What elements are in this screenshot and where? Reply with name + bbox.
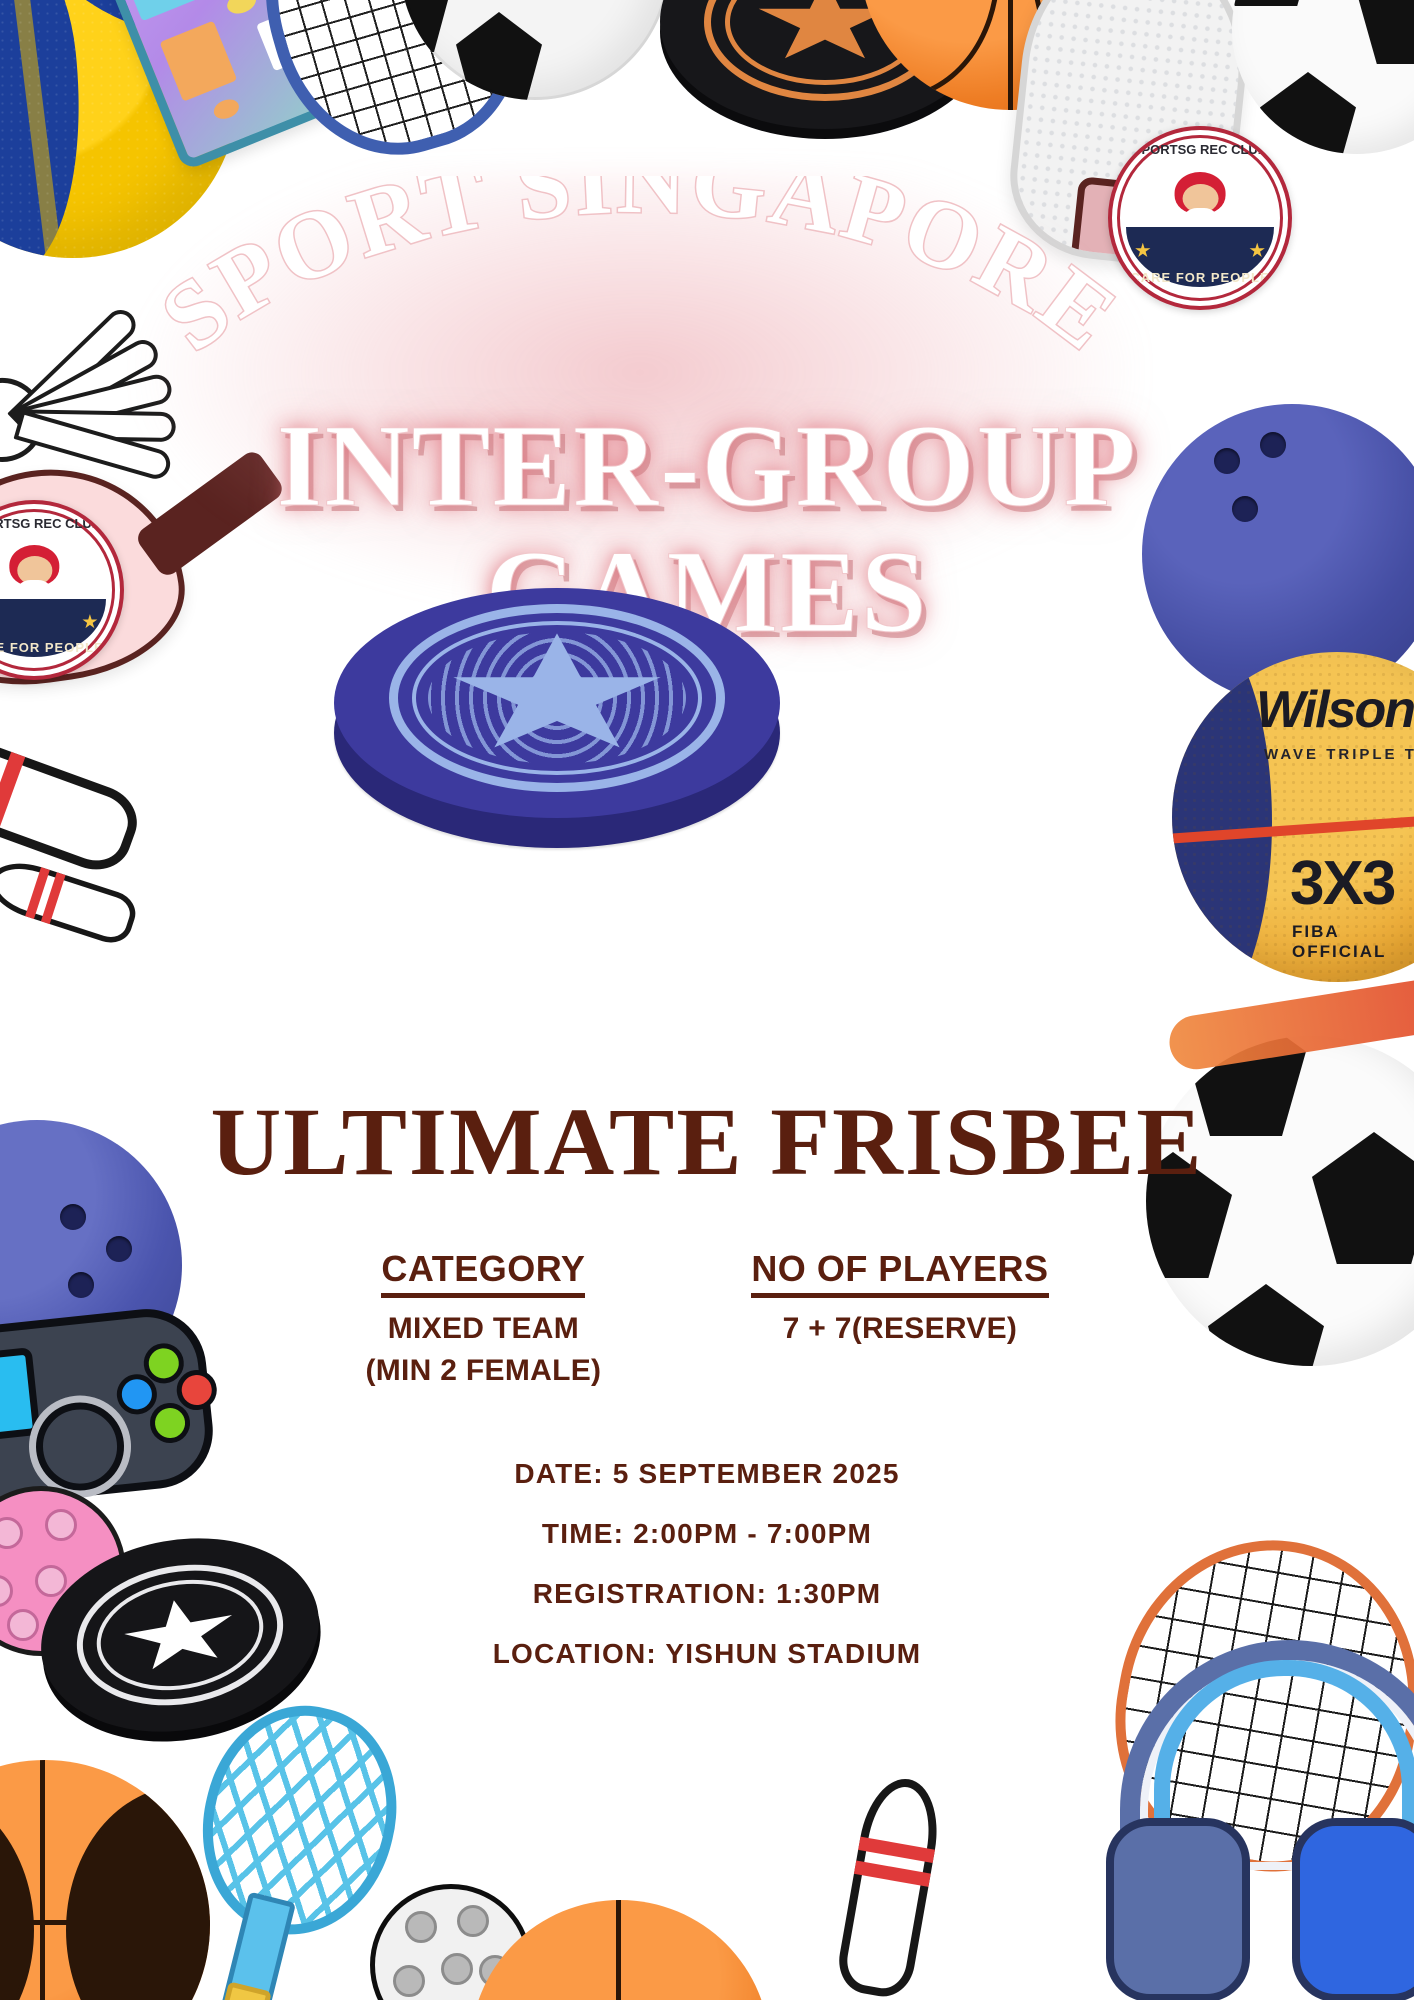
organisation-name: SPORT SINGAPORE (142, 176, 1138, 371)
sport-title: ULTIMATE FRISBEE (0, 1086, 1414, 1197)
bowling-pin-left-icon (0, 718, 147, 880)
lion-mascot-icon-top (1167, 172, 1234, 253)
detail-registration: REGISTRATION: 1:30PM (0, 1578, 1414, 1610)
wilson-model-text: WAVE TRIPLE THREAT (1264, 746, 1414, 763)
detail-date: DATE: 5 SEPTEMBER 2025 (0, 1458, 1414, 1490)
detail-time: TIME: 2:00PM - 7:00PM (0, 1518, 1414, 1550)
players-value: 7 + 7(RESERVE) (751, 1312, 1048, 1346)
badminton-racket-top-icon (231, 0, 554, 183)
orange-streak-decoration (1166, 973, 1414, 1073)
soccer-ball-top-right-icon (1232, 0, 1414, 154)
frisbee-black-top-icon (660, 0, 990, 129)
category-column: CATEGORY MIXED TEAM (MIN 2 FEMALE) (365, 1248, 601, 1388)
floorball-stick-icon (162, 1686, 400, 2000)
wilson-cert-text: FIBA OFFICIAL (1292, 922, 1386, 961)
event-details-list: DATE: 5 SEPTEMBER 2025 TIME: 2:00PM - 7:… (0, 1458, 1414, 1698)
basketball-wilson-icon: Wilson WAVE TRIPLE THREAT 3X3 FIBA OFFIC… (1172, 652, 1414, 982)
basketball-bottom-center-icon (470, 1900, 770, 2000)
bowling-pin-bottom-right-icon (834, 1773, 946, 2000)
svg-text:SPORT SINGAPORE: SPORT SINGAPORE (142, 176, 1138, 371)
club-name-text-top: SPORTSG REC CLUB (1133, 142, 1267, 157)
soccer-ball-top-icon (400, 0, 670, 100)
whiffle-ball-icon (370, 1884, 532, 2000)
info-columns: CATEGORY MIXED TEAM (MIN 2 FEMALE) NO OF… (0, 1248, 1414, 1388)
wilson-brand-text: Wilson (1256, 680, 1414, 740)
wilson-size-text: 3X3 (1290, 848, 1394, 919)
badge-star-right-icon (1249, 243, 1265, 259)
event-title-line1: INTER-GROUP (0, 398, 1414, 534)
players-column: NO OF PLAYERS 7 + 7(RESERVE) (751, 1248, 1048, 1388)
basketball-top-right-icon (860, 0, 1160, 110)
basketball-bottom-left-icon (0, 1760, 210, 2000)
category-value: MIXED TEAM (365, 1312, 601, 1346)
detail-location: LOCATION: YISHUN STADIUM (0, 1638, 1414, 1670)
bowling-pin-left-small-icon (0, 853, 141, 948)
organisation-arc-title: SPORT SINGAPORE (120, 176, 1160, 406)
category-heading: CATEGORY (381, 1248, 585, 1298)
event-title-line2: GAMES (0, 524, 1414, 660)
poster-canvas: MIKASA SPORTSG REC CLUB (0, 0, 1414, 2000)
players-heading: NO OF PLAYERS (751, 1248, 1048, 1298)
tablet-graphic (88, 0, 396, 171)
category-note: (MIN 2 FEMALE) (365, 1354, 601, 1388)
